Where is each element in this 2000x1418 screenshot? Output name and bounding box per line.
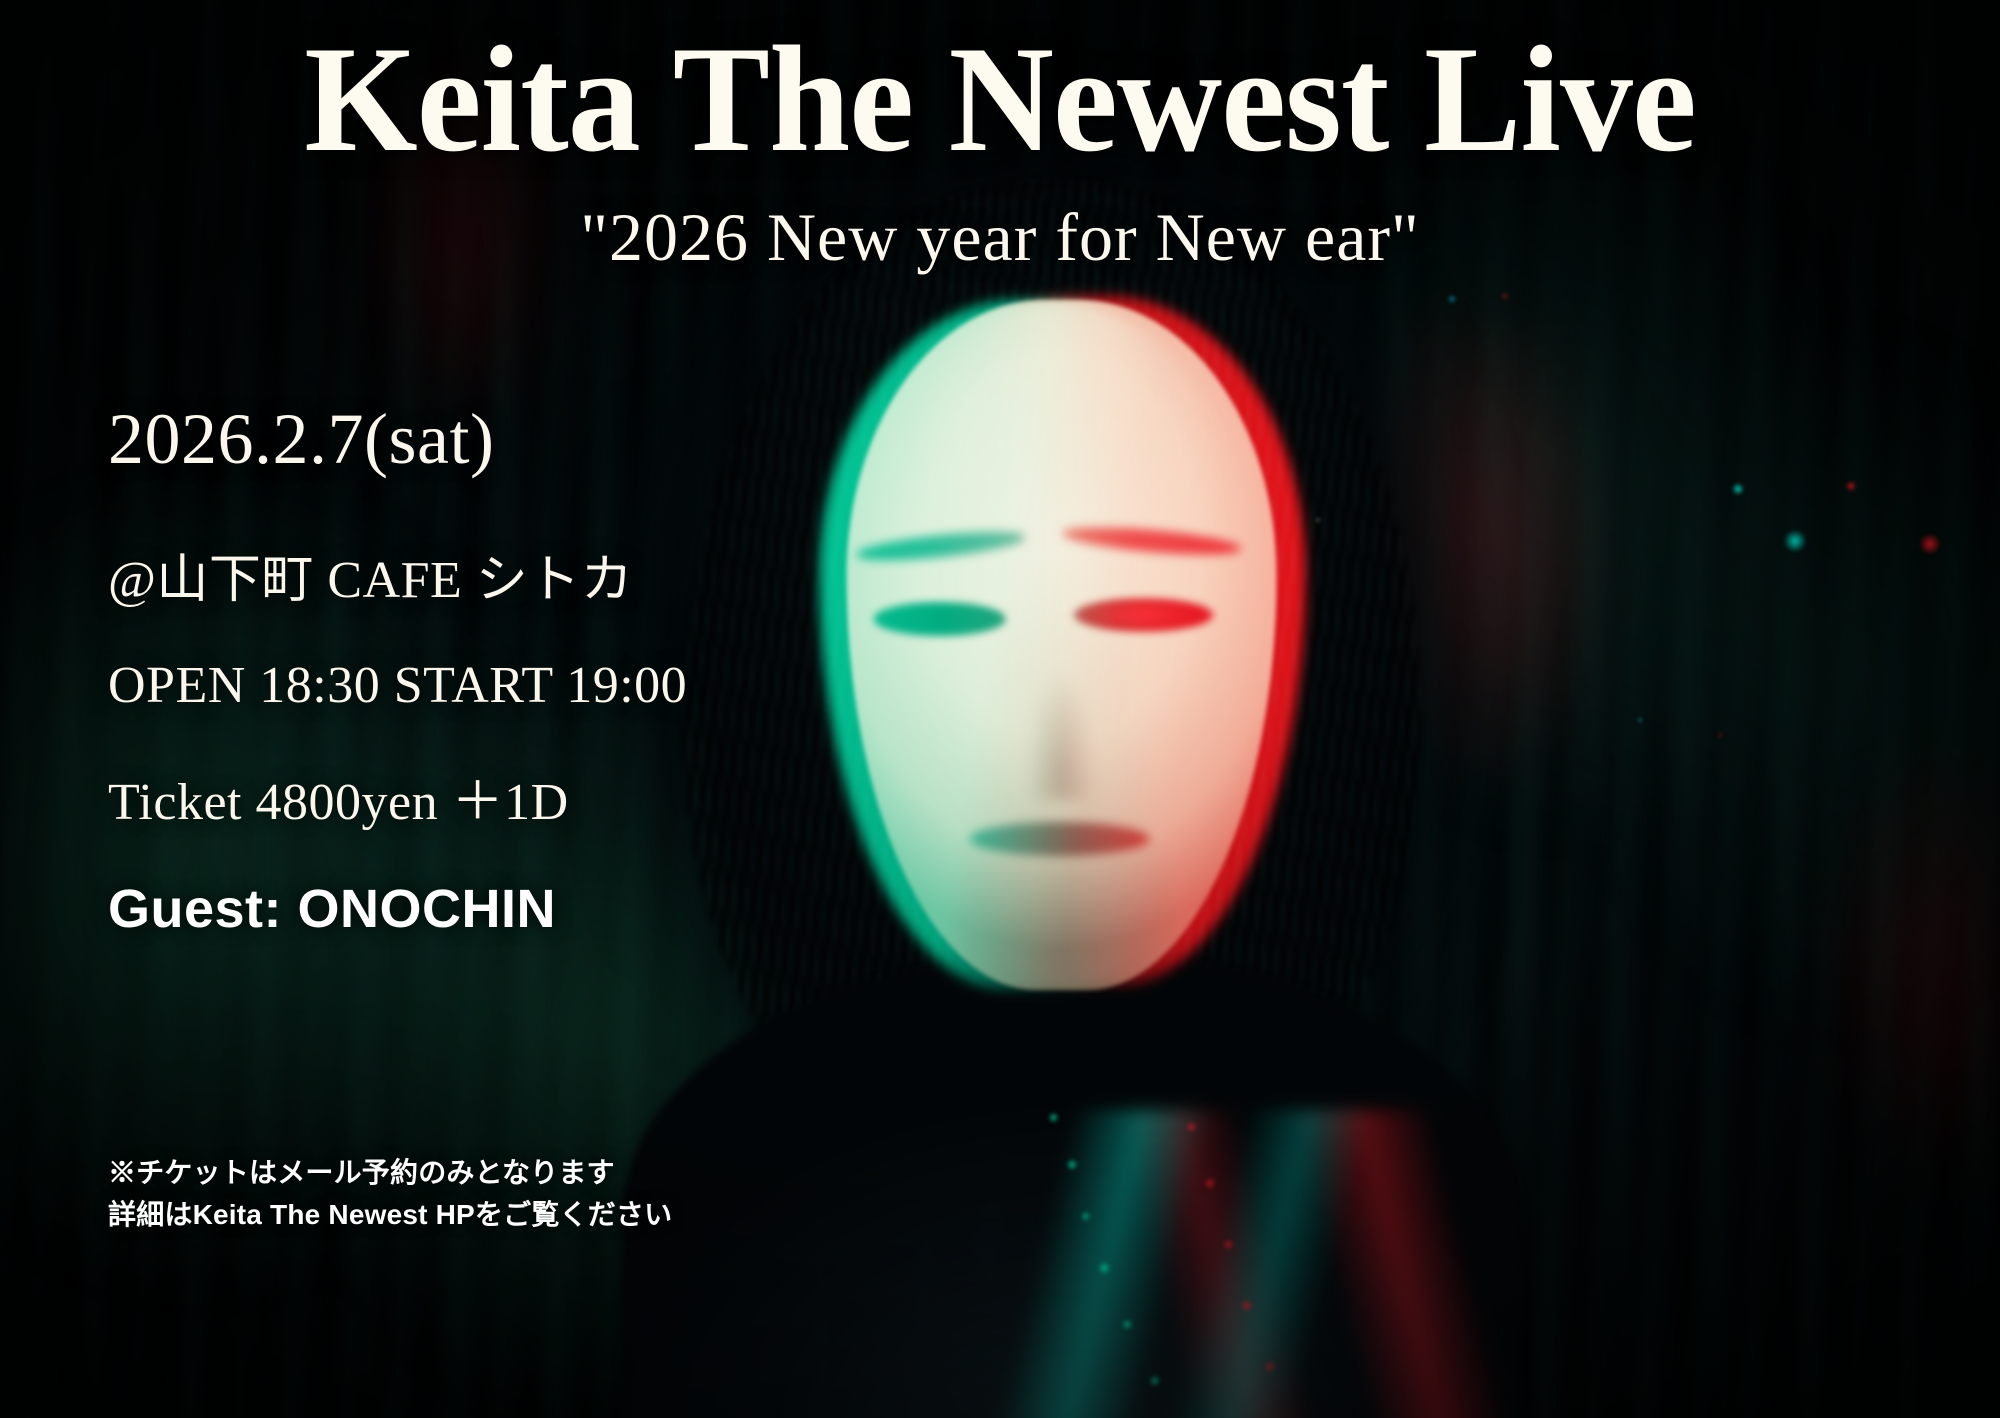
- note-line-ticket-reservation: ※チケットはメール予約のみとなります: [108, 1152, 672, 1194]
- event-venue: @山下町 CAFE シトカ: [108, 537, 868, 612]
- event-notes: ※チケットはメール予約のみとなります 詳細はKeita The Newest H…: [108, 1152, 672, 1236]
- event-guest: Guest: ONOCHIN: [108, 878, 868, 940]
- event-ticket-price: Ticket 4800yen ＋1D: [108, 759, 868, 834]
- poster-title: Keita The Newest Live: [40, 22, 1960, 177]
- event-times: OPEN 18:30 START 19:00: [108, 656, 868, 715]
- poster-text-content: Keita The Newest Live "2026 New year for…: [0, 0, 2000, 1418]
- note-line-homepage: 詳細はKeita The Newest HPをご覧ください: [108, 1194, 672, 1236]
- event-details: 2026.2.7(sat) @山下町 CAFE シトカ OPEN 18:30 S…: [108, 398, 868, 940]
- event-date: 2026.2.7(sat): [108, 398, 868, 481]
- poster-subtitle: "2026 New year for New ear": [0, 198, 2000, 277]
- concert-poster: Keita The Newest Live "2026 New year for…: [0, 0, 2000, 1418]
